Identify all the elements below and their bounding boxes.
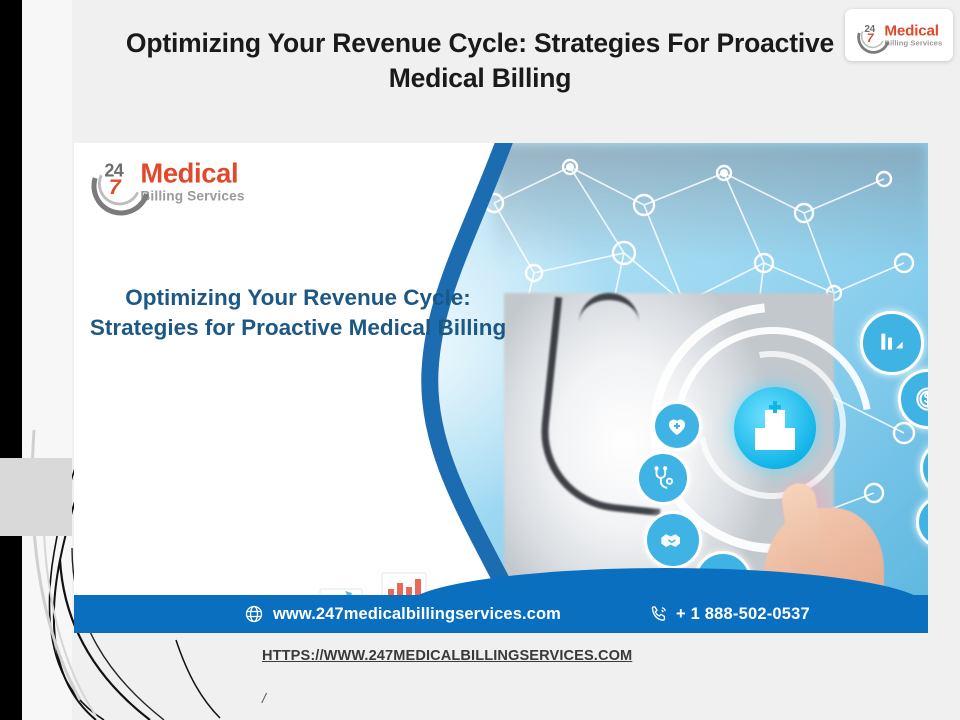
logo-tagline: Billing Services bbox=[884, 39, 942, 47]
website-text: www.247medicalbillingservices.com bbox=[273, 605, 561, 624]
logo-number-7: 7 bbox=[866, 31, 873, 45]
hospital-building-icon bbox=[734, 387, 816, 469]
logo-name: Medical bbox=[140, 160, 244, 187]
source-url-link[interactable]: HTTPS://WWW.247MEDICALBILLINGSERVICES.CO… bbox=[262, 648, 674, 666]
logo-number-7: 7 bbox=[109, 175, 121, 199]
phone-block[interactable]: + 1 888-502-0537 bbox=[649, 604, 810, 624]
image-headline: Optimizing Your Revenue Cycle: Strategie… bbox=[88, 283, 508, 343]
phone-text: + 1 888-502-0537 bbox=[676, 605, 810, 624]
source-url-trailing-slash: / bbox=[262, 690, 266, 706]
website-block[interactable]: www.247medicalbillingservices.com bbox=[244, 604, 561, 624]
slide-graphic: 24 7 Medical Billing Services Optimizing… bbox=[74, 143, 928, 633]
globe-icon bbox=[244, 604, 264, 624]
brandmark: 24 7 Medical Billing Services bbox=[856, 20, 942, 50]
page-title: Optimizing Your Revenue Cycle: Strategie… bbox=[120, 26, 840, 96]
contact-banner-content: www.247medicalbillingservices.com + 1 88… bbox=[74, 595, 928, 633]
handshake-icon bbox=[644, 511, 702, 569]
corner-brand-logo: 24 7 Medical Billing Services bbox=[845, 9, 953, 61]
image-brand-logo: 24 7 Medical Billing Services bbox=[90, 155, 245, 208]
chart-arrow-icon bbox=[860, 311, 924, 375]
gray-accent-rectangle bbox=[0, 458, 72, 536]
clock-swoosh-icon: 24 7 bbox=[90, 155, 143, 208]
phone-icon bbox=[649, 604, 669, 624]
clock-swoosh-icon: 24 7 bbox=[856, 20, 886, 50]
logo-name: Medical bbox=[884, 23, 942, 38]
stethoscope-icon bbox=[636, 451, 690, 505]
logo-tagline: Billing Services bbox=[140, 190, 244, 204]
heart-cross-icon bbox=[652, 401, 702, 451]
